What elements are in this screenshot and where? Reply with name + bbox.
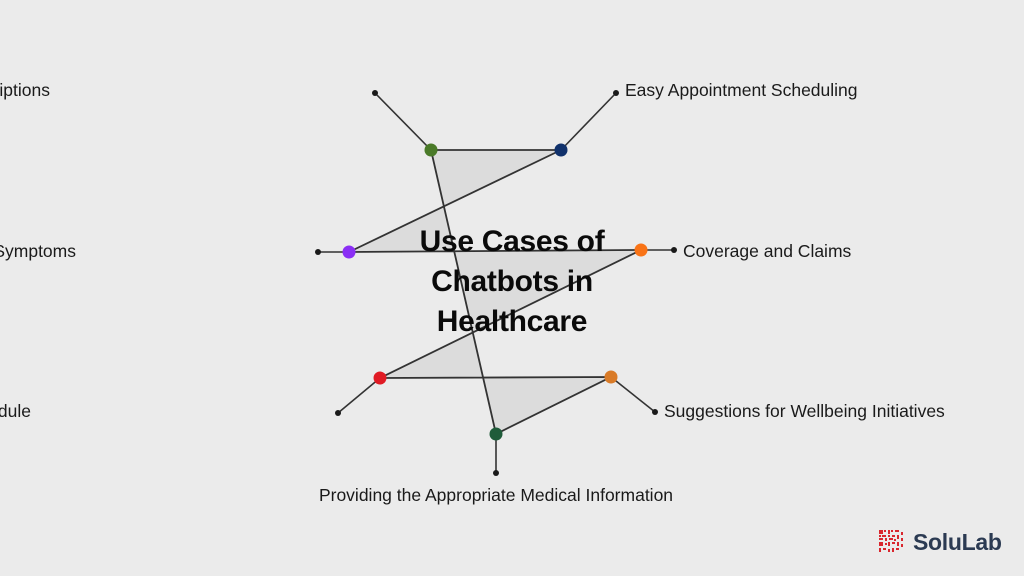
node-label-automated-refills: Automated Refills for Prescriptions bbox=[0, 82, 50, 100]
center-title: Use Cases of Chatbots in Healthcare bbox=[362, 222, 662, 342]
solulab-logo: SoluLab bbox=[879, 530, 1002, 554]
node-label-providing-medical-information: Providing the Appropriate Medical Inform… bbox=[0, 487, 1008, 505]
vertex-node-automated-refills[interactable] bbox=[425, 144, 438, 157]
infographic-canvas: Use Cases of Chatbots in Healthcare Auto… bbox=[0, 0, 1024, 576]
leader-endpoint-dot bbox=[372, 90, 378, 96]
leader-endpoint-dot bbox=[613, 90, 619, 96]
leader-endpoint-dot bbox=[315, 249, 321, 255]
node-label-easy-appointment-scheduling: Easy Appointment Scheduling bbox=[625, 82, 858, 100]
leader-endpoint-dot bbox=[671, 247, 677, 253]
leader-endpoint-dot bbox=[652, 409, 658, 415]
leader-line bbox=[375, 93, 431, 150]
solulab-mark-icon bbox=[879, 530, 905, 554]
node-label-examining-the-symptoms: Examining the Symptoms bbox=[0, 243, 76, 261]
leader-endpoint-dot bbox=[493, 470, 499, 476]
node-label-suggestions-for-wellbeing-initiatives: Suggestions for Wellbeing Initiatives bbox=[664, 403, 945, 421]
node-label-easily-adjustable-work-schedule: Easily Adjustable Work Schedule bbox=[0, 403, 31, 421]
vertex-node-suggestions-for-wellbeing-initiatives[interactable] bbox=[605, 371, 618, 384]
leader-line bbox=[338, 378, 380, 413]
vertex-node-providing-medical-information[interactable] bbox=[490, 428, 503, 441]
solulab-wordmark: SoluLab bbox=[913, 531, 1002, 554]
leader-line bbox=[611, 377, 655, 412]
leader-endpoint-dot bbox=[335, 410, 341, 416]
vertex-node-examining-the-symptoms[interactable] bbox=[343, 246, 356, 259]
node-label-coverage-and-claims: Coverage and Claims bbox=[683, 243, 851, 261]
vertex-node-easy-appointment-scheduling[interactable] bbox=[555, 144, 568, 157]
vertex-node-easily-adjustable-work-schedule[interactable] bbox=[374, 372, 387, 385]
leader-line bbox=[561, 93, 616, 150]
